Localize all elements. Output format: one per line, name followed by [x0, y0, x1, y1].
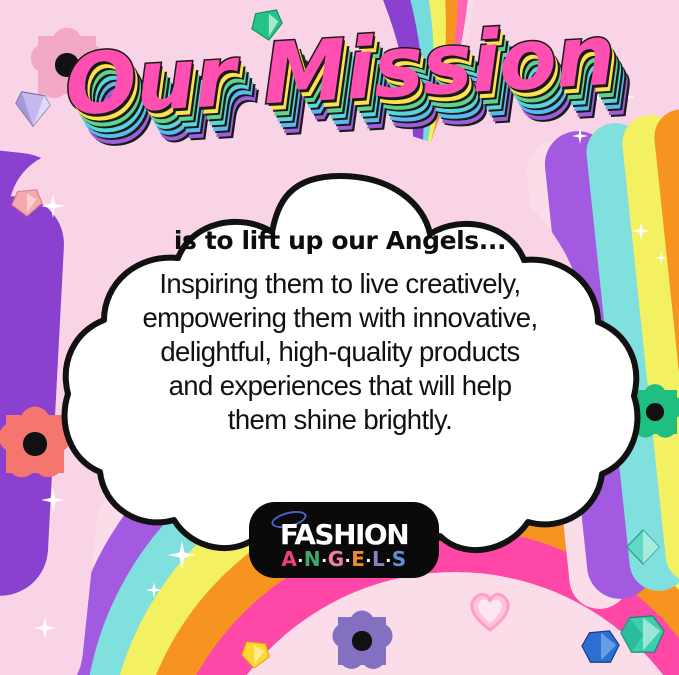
- gem-green-top-center-icon: [250, 8, 284, 44]
- sparkle-icon: [655, 252, 667, 264]
- logo-letter-separator: ·: [365, 551, 372, 570]
- gem-teal-bottom-right-icon: [620, 612, 666, 656]
- gem-blue-bottom-right-icon: [581, 628, 621, 666]
- logo-letter-e: E: [351, 547, 365, 571]
- logo-letter-separator: ·: [297, 551, 304, 570]
- logo-letter-a: A: [281, 547, 297, 571]
- logo-letter-g: G: [328, 547, 345, 571]
- fashion-angels-logo: FASHION A·N·G·E·L·S: [249, 502, 439, 578]
- flower-purple-bottom-center: [338, 617, 386, 665]
- logo-letter-n: N: [304, 547, 321, 571]
- sparkle-icon: [591, 75, 635, 119]
- sparkle-icon: [572, 128, 588, 144]
- heart-pink-bottom-icon: [467, 590, 513, 632]
- mission-poster: Our Mission is to lift up our Angels... …: [0, 0, 679, 675]
- sparkle-icon: [513, 62, 543, 92]
- logo-wordmark-angels: A·N·G·E·L·S: [249, 547, 439, 571]
- logo-letter-l: L: [372, 547, 385, 571]
- gem-purple-top-left-icon: [14, 88, 52, 128]
- gem-yellow-bottom-icon: [239, 638, 273, 670]
- logo-letter-s: S: [392, 547, 407, 571]
- logo-letter-separator: ·: [321, 551, 328, 570]
- logo-letter-separator: ·: [385, 551, 392, 570]
- flower-pink-top-left: [38, 36, 96, 94]
